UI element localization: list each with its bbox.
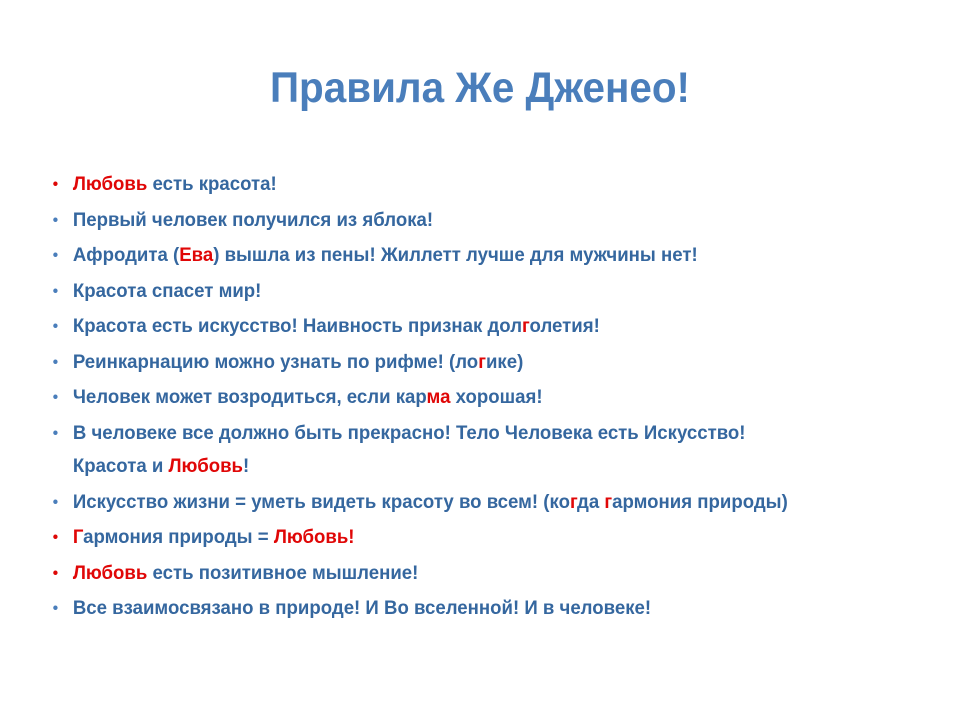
body-text: Красота есть искусство! Наивность призна… [73, 315, 522, 337]
body-text: армония природы) [612, 491, 788, 513]
list-item: •В человеке все должно быть прекрасно! Т… [48, 417, 888, 484]
page-title: Правила Же Дженео! [29, 62, 931, 114]
highlight-text: г [478, 351, 486, 373]
body-text: ике) [486, 351, 523, 373]
list-item-text: В человеке все должно быть прекрасно! Те… [73, 422, 746, 478]
body-text: ! [243, 455, 249, 477]
list-item-text: Человек может возродиться, если карма хо… [73, 386, 543, 408]
body-text: Красота спасет мир! [73, 280, 262, 302]
bullet-marker-icon: • [53, 557, 66, 591]
list-item-text: Первый человек получился из яблока! [73, 209, 433, 231]
body-text: В человеке все должно быть прекрасно! Те… [73, 422, 746, 444]
list-item: •Все взаимосвязано в природе! И Во вселе… [48, 592, 888, 626]
highlight-text: ма [427, 386, 451, 408]
bullet-marker-icon: • [53, 168, 66, 202]
bullet-marker-icon: • [53, 521, 66, 555]
highlight-text: г [604, 491, 612, 513]
body-text: хорошая! [450, 386, 542, 408]
bullet-list: •Любовь есть красота!•Первый человек пол… [48, 168, 928, 628]
body-text: Человек может возродиться, если кар [73, 386, 427, 408]
highlight-text: Любовь! [274, 526, 355, 548]
list-item-text: Любовь есть красота! [73, 173, 277, 195]
list-item-text: Искусство жизни = уметь видеть красоту в… [73, 491, 788, 513]
list-item-text: Любовь есть позитивное мышление! [73, 562, 419, 584]
body-text: ) вышла из пены! Жиллетт лучше для мужчи… [213, 244, 697, 266]
highlight-text: Любовь [168, 455, 243, 477]
list-item: •Искусство жизни = уметь видеть красоту … [48, 486, 888, 520]
body-text: Все взаимосвязано в природе! И Во вселен… [73, 597, 651, 619]
body-text: Искусство жизни = уметь видеть красоту в… [73, 491, 570, 513]
body-text: армония природы = [83, 526, 274, 548]
highlight-text: Ева [179, 244, 213, 266]
highlight-text: Любовь [73, 173, 148, 195]
list-item: •Любовь есть позитивное мышление! [48, 557, 888, 591]
list-item: •Человек может возродиться, если карма х… [48, 381, 888, 415]
list-item: •Первый человек получился из яблока! [48, 204, 888, 238]
list-item-text: Афродита (Ева) вышла из пены! Жиллетт лу… [73, 244, 698, 266]
body-text: Афродита ( [73, 244, 179, 266]
body-text: Красота и [73, 455, 169, 477]
list-item-text: Красота есть искусство! Наивность призна… [73, 315, 600, 337]
list-item: •Афродита (Ева) вышла из пены! Жиллетт л… [48, 239, 888, 273]
body-text: Первый человек получился из яблока! [73, 209, 433, 231]
highlight-text: Г [73, 526, 83, 548]
list-item-text: Реинкарнацию можно узнать по рифме! (лог… [73, 351, 523, 373]
body-text: есть красота! [147, 173, 276, 195]
bullet-marker-icon: • [53, 381, 66, 415]
body-text: Реинкарнацию можно узнать по рифме! (ло [73, 351, 478, 373]
bullet-marker-icon: • [53, 275, 66, 309]
list-item-text: Гармония природы = Любовь! [73, 526, 355, 548]
highlight-text: г [570, 491, 577, 513]
body-text: да [577, 491, 604, 513]
list-item-text: Все взаимосвязано в природе! И Во вселен… [73, 597, 651, 619]
presentation-slide: Правила Же Дженео! •Любовь есть красота!… [0, 0, 960, 720]
list-item: •Реинкарнацию можно узнать по рифме! (ло… [48, 346, 888, 380]
bullet-marker-icon: • [53, 204, 66, 238]
list-item: •Красота есть искусство! Наивность призн… [48, 310, 888, 344]
bullet-marker-icon: • [53, 417, 66, 451]
bullet-marker-icon: • [53, 239, 66, 273]
highlight-text: Любовь [73, 562, 148, 584]
list-item: •Гармония природы = Любовь! [48, 521, 888, 555]
body-text: есть позитивное мышление! [147, 562, 418, 584]
bullet-marker-icon: • [53, 310, 66, 344]
bullet-marker-icon: • [53, 592, 66, 626]
bullet-marker-icon: • [53, 486, 66, 520]
list-item: •Красота спасет мир! [48, 275, 888, 309]
bullet-marker-icon: • [53, 346, 66, 380]
list-item: •Любовь есть красота! [48, 168, 888, 202]
list-item-text: Красота спасет мир! [73, 280, 262, 302]
body-text: олетия! [530, 315, 600, 337]
